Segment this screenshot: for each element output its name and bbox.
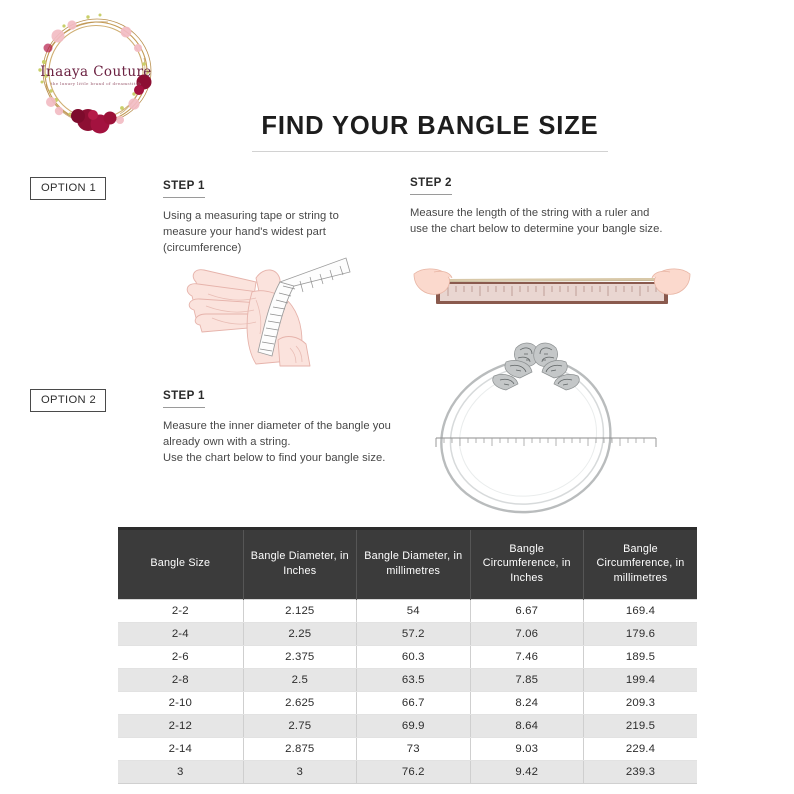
table-cell-col-2: 69.9 — [357, 715, 470, 738]
table-cell-col-2: 73 — [357, 738, 470, 761]
logo-tagline: the luxury little brand of dreamstitch — [51, 81, 142, 86]
logo-wreath-icon: Inaaya Couture the luxury little brand o… — [26, 8, 166, 136]
table-cell-col-3: 7.46 — [470, 646, 583, 669]
option-2-badge: OPTION 2 — [30, 389, 106, 412]
string-and-ruler-photo — [412, 250, 692, 322]
column-header-diameter-inches: Bangle Diameter, in Inches — [243, 529, 356, 600]
page-title-block: FIND YOUR BANGLE SIZE — [252, 114, 608, 152]
table-cell-col-4: 179.6 — [583, 623, 697, 646]
table-cell-col-4: 239.3 — [583, 761, 697, 784]
brand-logo: Inaaya Couture the luxury little brand o… — [26, 8, 166, 136]
table-header-row: Bangle Size Bangle Diameter, in Inches B… — [118, 529, 697, 600]
table-cell-col-3: 6.67 — [470, 600, 583, 623]
table-cell-col-3: 7.85 — [470, 669, 583, 692]
table-row: 2-22.125546.67169.4 — [118, 600, 697, 623]
table-row: 2-102.62566.78.24209.3 — [118, 692, 697, 715]
table-cell-col-0: 2-2 — [118, 600, 243, 623]
table-cell-col-2: 57.2 — [357, 623, 470, 646]
option-1-step-1: STEP 1 Using a measuring tape or string … — [163, 176, 368, 257]
table-cell-col-1: 2.375 — [243, 646, 356, 669]
table-cell-col-4: 209.3 — [583, 692, 697, 715]
table-cell-col-1: 2.875 — [243, 738, 356, 761]
table-cell-col-1: 2.5 — [243, 669, 356, 692]
table-cell-col-3: 8.24 — [470, 692, 583, 715]
table-row: 3376.29.42239.3 — [118, 761, 697, 784]
table-cell-col-3: 9.42 — [470, 761, 583, 784]
table-cell-col-2: 63.5 — [357, 669, 470, 692]
table-cell-col-0: 2-10 — [118, 692, 243, 715]
table-row: 2-42.2557.27.06179.6 — [118, 623, 697, 646]
table-cell-col-0: 2-8 — [118, 669, 243, 692]
column-header-diameter-mm: Bangle Diameter, in millimetres — [357, 529, 470, 600]
table-cell-col-1: 2.75 — [243, 715, 356, 738]
table-cell-col-2: 66.7 — [357, 692, 470, 715]
table-row: 2-82.563.57.85199.4 — [118, 669, 697, 692]
page-title: FIND YOUR BANGLE SIZE — [252, 114, 608, 140]
table-cell-col-1: 2.25 — [243, 623, 356, 646]
table-cell-col-0: 3 — [118, 761, 243, 784]
table-cell-col-2: 60.3 — [357, 646, 470, 669]
table-cell-col-0: 2-6 — [118, 646, 243, 669]
step-heading: STEP 1 — [163, 390, 205, 408]
table-row: 2-122.7569.98.64219.5 — [118, 715, 697, 738]
table-cell-col-0: 2-4 — [118, 623, 243, 646]
table-cell-col-1: 3 — [243, 761, 356, 784]
step-heading: STEP 1 — [163, 180, 205, 198]
column-header-circumference-inches: Bangle Circumference, in Inches — [470, 529, 583, 600]
hand-measuring-tape-illustration — [160, 248, 365, 370]
logo-brand-name: Inaaya Couture — [40, 64, 151, 80]
table-cell-col-4: 219.5 — [583, 715, 697, 738]
table-cell-col-3: 8.64 — [470, 715, 583, 738]
option-1-step-2: STEP 2 Measure the length of the string … — [410, 173, 668, 237]
option-1-badge: OPTION 1 — [30, 177, 106, 200]
table-cell-col-3: 7.06 — [470, 623, 583, 646]
option-2-step-1: STEP 1 Measure the inner diameter of the… — [163, 386, 408, 467]
table-cell-col-1: 2.625 — [243, 692, 356, 715]
table-cell-col-0: 2-14 — [118, 738, 243, 761]
title-divider — [252, 151, 608, 152]
table-cell-col-4: 169.4 — [583, 600, 697, 623]
column-header-bangle-size: Bangle Size — [118, 529, 243, 600]
table-cell-col-4: 199.4 — [583, 669, 697, 692]
table-cell-col-2: 54 — [357, 600, 470, 623]
bangle-with-ruler-illustration — [420, 334, 672, 516]
table-cell-col-0: 2-12 — [118, 715, 243, 738]
table-cell-col-3: 9.03 — [470, 738, 583, 761]
table-cell-col-4: 189.5 — [583, 646, 697, 669]
step-body: Measure the length of the string with a … — [410, 205, 668, 238]
table-cell-col-4: 229.4 — [583, 738, 697, 761]
column-header-circumference-mm: Bangle Circumference, in millimetres — [583, 529, 697, 600]
table-cell-col-2: 76.2 — [357, 761, 470, 784]
bangle-size-table: Bangle Size Bangle Diameter, in Inches B… — [118, 527, 697, 784]
table-row: 2-62.37560.37.46189.5 — [118, 646, 697, 669]
step-heading: STEP 2 — [410, 177, 452, 195]
step-body: Measure the inner diameter of the bangle… — [163, 418, 408, 467]
table-cell-col-1: 2.125 — [243, 600, 356, 623]
table-row: 2-142.875739.03229.4 — [118, 738, 697, 761]
